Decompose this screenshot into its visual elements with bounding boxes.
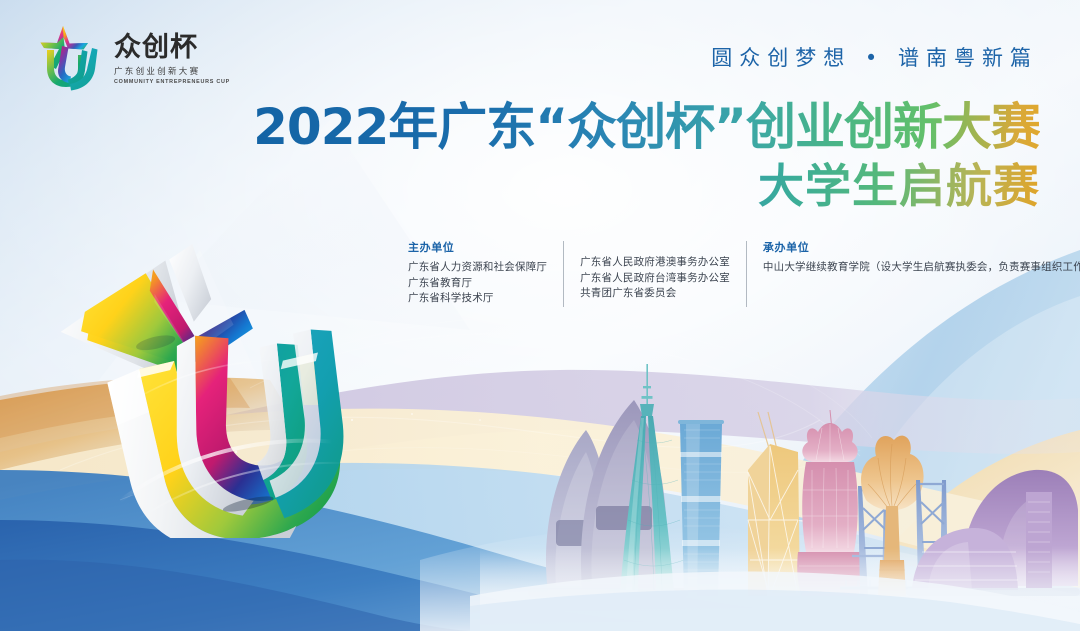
undertaker-heading: 承办单位	[763, 239, 1080, 255]
tagline: 圆众创梦想 • 谱南粤新篇	[711, 42, 1038, 72]
host-item: 广东省人民政府台湾事务办公室	[580, 271, 730, 287]
organizers-block: 主办单位 广东省人力资源和社会保障厅 广东省教育厅 广东省科学技术厅 广东省人民…	[408, 239, 1080, 307]
host-item: 共青团广东省委员会	[580, 286, 730, 302]
title-line-2: 大学生启航赛	[253, 158, 1040, 214]
host-column-a: 主办单位 广东省人力资源和社会保障厅 广东省教育厅 广东省科学技术厅	[408, 239, 547, 307]
host-heading: 主办单位	[408, 239, 547, 255]
host-item: 广东省人民政府港澳事务办公室	[580, 255, 730, 271]
host-item: 广东省教育厅	[408, 276, 547, 292]
undertaker-item: 中山大学继续教育学院（设大学生启航赛执委会，负责赛事组织工作）	[763, 260, 1080, 276]
spacer	[580, 239, 730, 255]
host-item: 广东省人力资源和社会保障厅	[408, 260, 547, 276]
logo-subtitle-en: COMMUNITY ENTREPRENEURS CUP	[114, 79, 230, 85]
logo-wordmark: 众创杯 广东创业创新大赛 COMMUNITY ENTREPRENEURS CUP	[114, 30, 230, 85]
poster-canvas: 众创杯 广东创业创新大赛 COMMUNITY ENTREPRENEURS CUP…	[0, 0, 1080, 631]
event-logo: 众创杯 广东创业创新大赛 COMMUNITY ENTREPRENEURS CUP	[34, 18, 234, 96]
host-column-b: 广东省人民政府港澳事务办公室 广东省人民政府台湾事务办公室 共青团广东省委员会	[580, 239, 730, 307]
undertaker-column: 承办单位 中山大学继续教育学院（设大学生启航赛执委会，负责赛事组织工作）	[763, 239, 1080, 307]
title-line-1: 2022年广东“众创杯”创业创新大赛	[253, 98, 1040, 156]
zhongchuangbei-star-u-logo-icon	[34, 22, 108, 92]
host-item: 广东省科学技术厅	[408, 291, 547, 307]
logo-subtitle-cn: 广东创业创新大赛	[114, 65, 230, 77]
organizer-divider-2	[746, 241, 747, 307]
main-title: 2022年广东“众创杯”创业创新大赛 大学生启航赛	[253, 98, 1040, 214]
logo-title: 众创杯	[114, 34, 230, 61]
organizer-divider-1	[563, 241, 564, 307]
